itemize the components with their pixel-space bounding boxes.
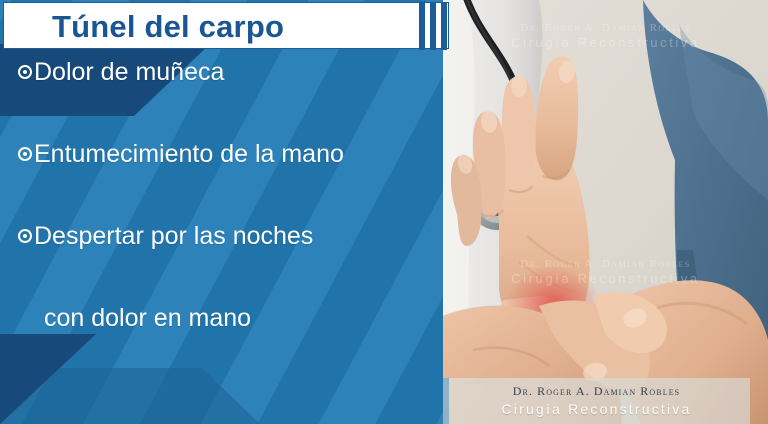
doctor-specialty: Cirugía Reconstructiva: [443, 401, 750, 417]
caption-accent-bar: [443, 378, 449, 424]
banner-stripe-decoration: [412, 3, 448, 50]
list-item-label: Dolor de muñeca: [34, 56, 224, 88]
bullet-ring-icon: [18, 65, 32, 79]
banner-stripe-2: [430, 3, 436, 50]
banner-stripe-1: [419, 3, 425, 50]
list-item-label: Despertar por las noches: [34, 220, 313, 252]
list-item: Entumecimiento de la mano: [0, 138, 443, 220]
clinical-photo: Dr. Roger A. Damian Robles Cirugía Recon…: [443, 0, 768, 424]
title-banner: Túnel del carpo: [3, 2, 449, 49]
page-title: Túnel del carpo: [52, 4, 284, 49]
list-item-continuation: con dolor en mano: [0, 302, 443, 384]
list-item-label: Entumecimiento de la mano: [34, 138, 344, 170]
photo-illustration: [443, 0, 768, 424]
bullet-ring-icon: [18, 147, 32, 161]
doctor-credit-bar: Dr. Roger A. Damian Robles Cirugía Recon…: [443, 378, 750, 424]
banner-stripe-3: [441, 3, 447, 50]
list-item: Dolor de muñeca: [0, 56, 443, 138]
list-item: Despertar por las noches: [0, 220, 443, 302]
symptom-list: Dolor de muñeca Entumecimiento de la man…: [0, 56, 443, 384]
doctor-name: Dr. Roger A. Damian Robles: [443, 384, 750, 399]
bullet-ring-icon: [18, 229, 32, 243]
slide-canvas: Dr. Roger A. Damian Robles Cirugía Recon…: [0, 0, 768, 424]
list-item-label: con dolor en mano: [44, 302, 251, 334]
